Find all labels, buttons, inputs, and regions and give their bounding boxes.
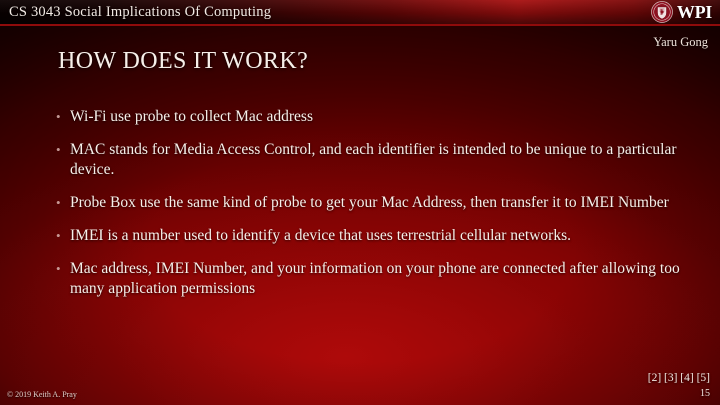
course-title: CS 3043 Social Implications Of Computing xyxy=(9,4,271,21)
bullet-text: Mac address, IMEI Number, and your infor… xyxy=(70,259,681,299)
bullet-text: IMEI is a number used to identify a devi… xyxy=(70,226,571,246)
slide-header-bar: CS 3043 Social Implications Of Computing… xyxy=(0,0,720,26)
list-item: • IMEI is a number used to identify a de… xyxy=(56,226,681,246)
reference-citations: [2] [3] [4] [5] xyxy=(648,372,710,384)
bullet-dot-icon: • xyxy=(56,193,70,213)
page-number: 15 xyxy=(700,388,710,399)
presentation-slide: CS 3043 Social Implications Of Computing… xyxy=(0,0,720,405)
bullet-dot-icon: • xyxy=(56,259,70,279)
bullet-dot-icon: • xyxy=(56,107,70,127)
copyright-notice: © 2019 Keith A. Pray xyxy=(7,390,77,399)
bullet-text: MAC stands for Media Access Control, and… xyxy=(70,140,681,180)
bullet-list: • Wi-Fi use probe to collect Mac address… xyxy=(56,107,681,312)
list-item: • Probe Box use the same kind of probe t… xyxy=(56,193,681,213)
list-item: • Wi-Fi use probe to collect Mac address xyxy=(56,107,681,127)
bullet-text: Probe Box use the same kind of probe to … xyxy=(70,193,669,213)
bullet-text: Wi-Fi use probe to collect Mac address xyxy=(70,107,313,127)
wpi-seal-icon xyxy=(651,1,673,23)
wpi-brand-text: WPI xyxy=(677,3,712,21)
list-item: • MAC stands for Media Access Control, a… xyxy=(56,140,681,180)
list-item: • Mac address, IMEI Number, and your inf… xyxy=(56,259,681,299)
bullet-dot-icon: • xyxy=(56,226,70,246)
bullet-dot-icon: • xyxy=(56,140,70,160)
presenter-name: Yaru Gong xyxy=(653,35,708,50)
wpi-brand: WPI xyxy=(651,1,712,23)
slide-title: HOW DOES IT WORK? xyxy=(58,48,308,75)
